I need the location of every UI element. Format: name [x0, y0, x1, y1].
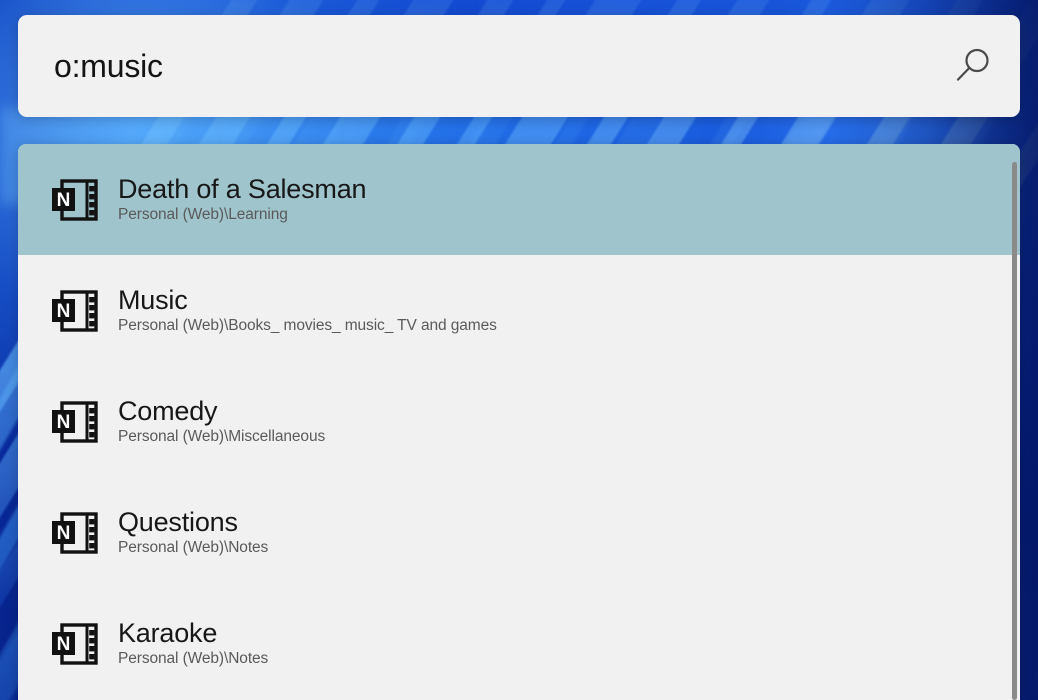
onenote-icon: N [38, 288, 114, 334]
search-result-row-1[interactable]: N Music Personal (Web)\Books_ movies_ mu… [18, 255, 1020, 366]
search-result-title: Comedy [118, 396, 325, 426]
search-result-subtitle: Personal (Web)\Books_ movies_ music_ TV … [118, 317, 497, 336]
search-result-texts: Karaoke Personal (Web)\Notes [114, 618, 268, 669]
search-result-texts: Death of a Salesman Personal (Web)\Learn… [114, 174, 366, 225]
search-box[interactable] [18, 15, 1020, 117]
onenote-icon: N [38, 399, 114, 445]
svg-text:N: N [57, 412, 71, 433]
search-result-title: Karaoke [118, 618, 268, 648]
search-result-title: Questions [118, 507, 268, 537]
svg-text:N: N [57, 634, 71, 655]
onenote-icon: N [38, 177, 114, 223]
search-result-subtitle: Personal (Web)\Miscellaneous [118, 428, 325, 447]
search-result-texts: Music Personal (Web)\Books_ movies_ musi… [114, 285, 497, 336]
search-input[interactable] [18, 48, 924, 85]
search-result-texts: Comedy Personal (Web)\Miscellaneous [114, 396, 325, 447]
search-result-row-4[interactable]: N Karaoke Personal (Web)\Notes [18, 588, 1020, 699]
search-result-row-0[interactable]: N Death of a Salesman Personal (Web)\Lea… [18, 144, 1020, 255]
onenote-icon: N [38, 621, 114, 667]
search-results-list: N Death of a Salesman Personal (Web)\Lea… [18, 144, 1020, 700]
search-result-title: Music [118, 285, 497, 315]
search-result-title: Death of a Salesman [118, 174, 366, 204]
search-result-subtitle: Personal (Web)\Notes [118, 650, 268, 669]
search-icon[interactable] [924, 44, 1020, 88]
onenote-icon: N [38, 510, 114, 556]
search-results-panel: N Death of a Salesman Personal (Web)\Lea… [18, 144, 1020, 700]
svg-text:N: N [57, 190, 71, 211]
svg-text:N: N [57, 523, 71, 544]
results-scrollbar[interactable] [1012, 162, 1017, 700]
search-result-subtitle: Personal (Web)\Notes [118, 539, 268, 558]
search-result-row-3[interactable]: N Questions Personal (Web)\Notes [18, 477, 1020, 588]
search-result-row-2[interactable]: N Comedy Personal (Web)\Miscellaneous [18, 366, 1020, 477]
search-result-subtitle: Personal (Web)\Learning [118, 206, 366, 225]
search-result-texts: Questions Personal (Web)\Notes [114, 507, 268, 558]
svg-text:N: N [57, 301, 71, 322]
